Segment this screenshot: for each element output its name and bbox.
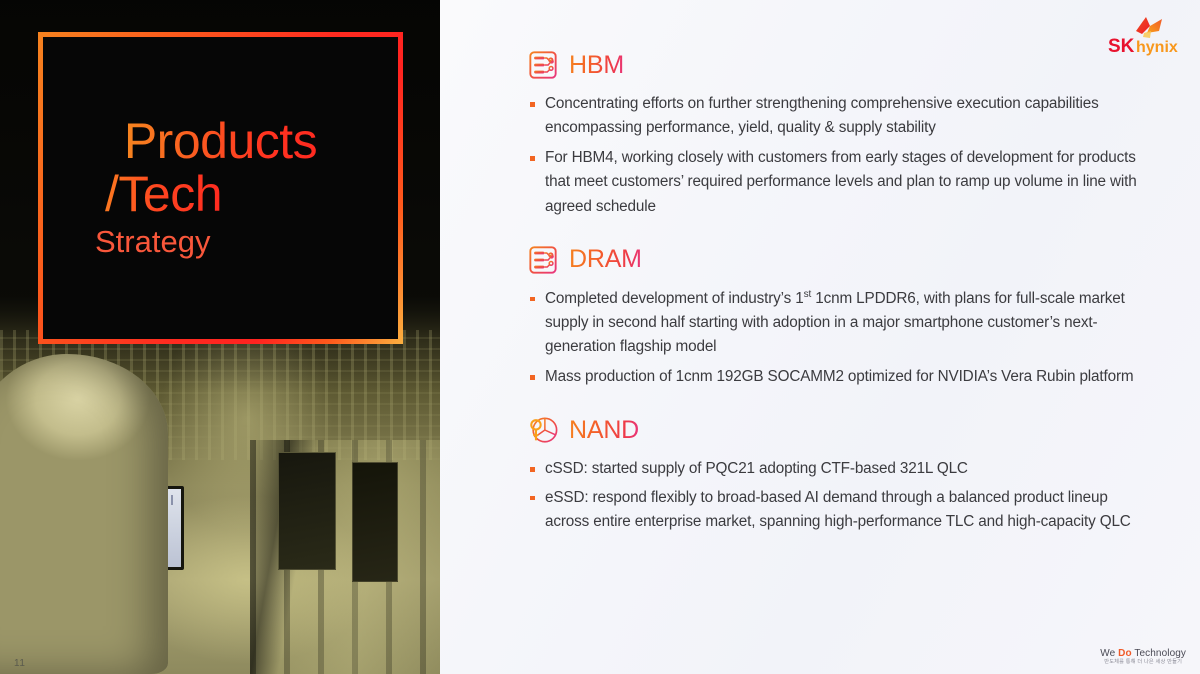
- tagline-suffix: Technology: [1132, 648, 1186, 659]
- section-nand: NAND cSSD: started supply of PQC21 adopt…: [528, 415, 1148, 533]
- left-visual-panel: Products /Tech Strategy 11: [0, 0, 440, 674]
- bullet-item: Mass production of 1cnm 192GB SOCAMM2 op…: [528, 365, 1148, 389]
- sk-hynix-logo: SK hynix: [1106, 14, 1188, 56]
- section-nand-bullets: cSSD: started supply of PQC21 adopting C…: [528, 457, 1148, 533]
- chip-circuit-icon: [528, 245, 558, 275]
- section-hbm-title: HBM: [569, 51, 624, 80]
- bullet-item: For HBM4, working closely with customers…: [528, 146, 1148, 218]
- title-card-inner: Products /Tech Strategy: [43, 37, 398, 339]
- tagline-prefix: We: [1100, 648, 1118, 659]
- section-nand-title: NAND: [569, 416, 639, 445]
- bullet-item: Concentrating efforts on further strengt…: [528, 92, 1148, 140]
- tagline-main: We Do Technology: [1100, 648, 1186, 660]
- title-line-products: Products: [124, 115, 317, 168]
- title-card: Products /Tech Strategy: [38, 32, 403, 344]
- svg-text:SK: SK: [1108, 36, 1135, 56]
- content-panel: SK hynix: [440, 0, 1200, 674]
- photo-equipment-box: [278, 452, 336, 570]
- bullet-item: eSSD: respond flexibly to broad-based AI…: [528, 486, 1148, 534]
- title-line-tech: /Tech: [105, 168, 222, 221]
- bullet-item: Completed development of industry’s 1st …: [528, 287, 1148, 359]
- section-hbm-bullets: Concentrating efforts on further strengt…: [528, 92, 1148, 219]
- section-dram: DRAM Completed development of industry’s…: [528, 245, 1148, 390]
- bullet-item: cSSD: started supply of PQC21 adopting C…: [528, 457, 1148, 481]
- section-dram-title: DRAM: [569, 245, 642, 274]
- section-dram-bullets: Completed development of industry’s 1st …: [528, 287, 1148, 390]
- section-dram-header: DRAM: [528, 245, 1148, 275]
- sk-hynix-logo-svg: SK hynix: [1106, 14, 1188, 56]
- svg-text:hynix: hynix: [1136, 39, 1178, 56]
- title-line-strategy: Strategy: [95, 223, 210, 260]
- tagline-highlight: Do: [1118, 648, 1132, 659]
- slide-root: Products /Tech Strategy 11: [0, 0, 1200, 674]
- section-hbm: HBM Concentrating efforts on further str…: [528, 50, 1148, 219]
- tagline-korean: 반도체를 통해 더 나은 세상 만들기: [1100, 660, 1186, 666]
- page-number: 11: [14, 658, 25, 669]
- tagline: We Do Technology 반도체를 통해 더 나은 세상 만들기: [1100, 648, 1186, 666]
- bullet-text-pre: Completed development of industry’s 1: [545, 290, 804, 307]
- section-nand-header: NAND: [528, 415, 1148, 445]
- chip-circuit-icon: [528, 50, 558, 80]
- photo-equipment-box-2: [352, 462, 398, 582]
- photo-cleanroom-worker: [0, 354, 168, 674]
- nand-disc-icon: [528, 415, 558, 445]
- section-hbm-header: HBM: [528, 50, 1148, 80]
